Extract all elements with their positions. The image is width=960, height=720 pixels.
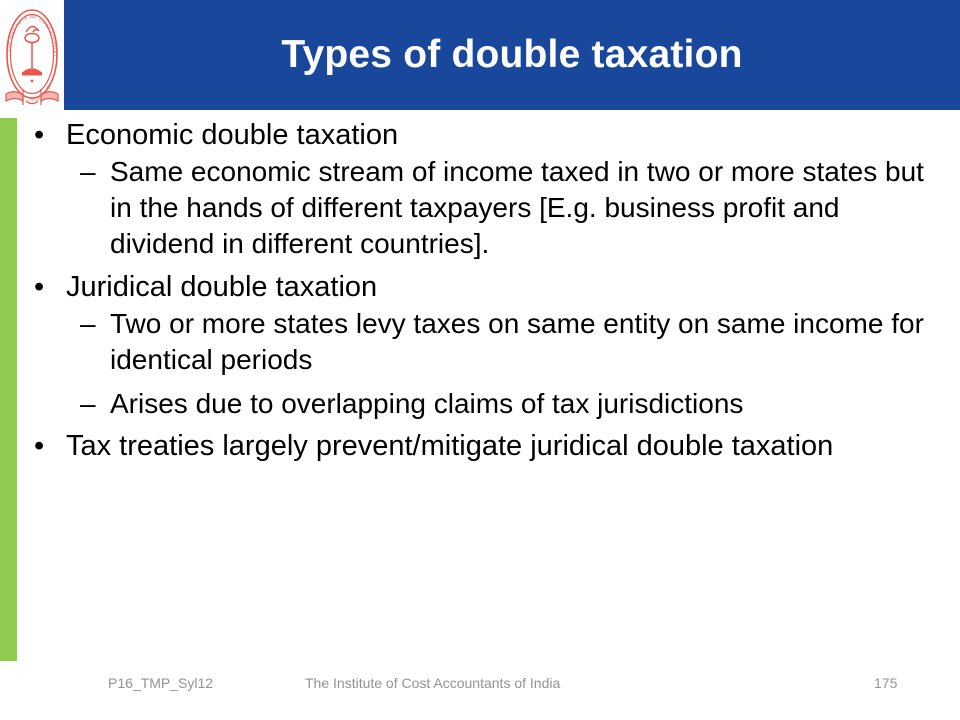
- bullet-item: • Juridical double taxation: [30, 270, 945, 304]
- footer-page-number: 175: [874, 675, 897, 691]
- bullet-item: • Tax treaties largely prevent/mitigate …: [30, 429, 945, 463]
- footer-course-code: P16_TMP_Syl12: [108, 675, 213, 691]
- bullet-marker-icon: •: [34, 270, 44, 304]
- footer-organisation: The Institute of Cost Accountants of Ind…: [305, 675, 560, 691]
- sub-bullet-item: – Arises due to overlapping claims of ta…: [30, 386, 945, 422]
- institute-logo: THE INSTITUTE OF COST ACCOUNTANTS OF IND…: [2, 2, 62, 110]
- bullet-marker-icon: •: [34, 118, 44, 152]
- sub-bullet-item: – Same economic stream of income taxed i…: [30, 154, 945, 261]
- bullet-marker-icon: •: [34, 429, 44, 463]
- bullet-text: Juridical double taxation: [66, 271, 377, 303]
- dash-marker-icon: –: [80, 154, 96, 190]
- page-title: Types of double taxation: [281, 35, 742, 74]
- sub-bullet-item: – Two or more states levy taxes on same …: [30, 306, 945, 378]
- slide-body: • Economic double taxation – Same econom…: [30, 118, 945, 658]
- dash-marker-icon: –: [80, 386, 96, 422]
- slide-title-bar: Types of double taxation: [64, 0, 960, 110]
- sub-bullet-text: Same economic stream of income taxed in …: [110, 156, 924, 259]
- dash-marker-icon: –: [80, 306, 96, 342]
- sub-bullet-text: Two or more states levy taxes on same en…: [110, 308, 924, 375]
- sub-bullet-text: Arises due to overlapping claims of tax …: [110, 388, 743, 419]
- slide-footer: P16_TMP_Syl12 The Institute of Cost Acco…: [0, 672, 960, 702]
- bullet-text: Tax treaties largely prevent/mitigate ju…: [66, 430, 833, 462]
- bullet-text: Economic double taxation: [66, 119, 398, 151]
- bullet-item: • Economic double taxation: [30, 118, 945, 152]
- left-accent-bar: [0, 118, 17, 661]
- presentation-slide: THE INSTITUTE OF COST ACCOUNTANTS OF IND…: [0, 0, 960, 720]
